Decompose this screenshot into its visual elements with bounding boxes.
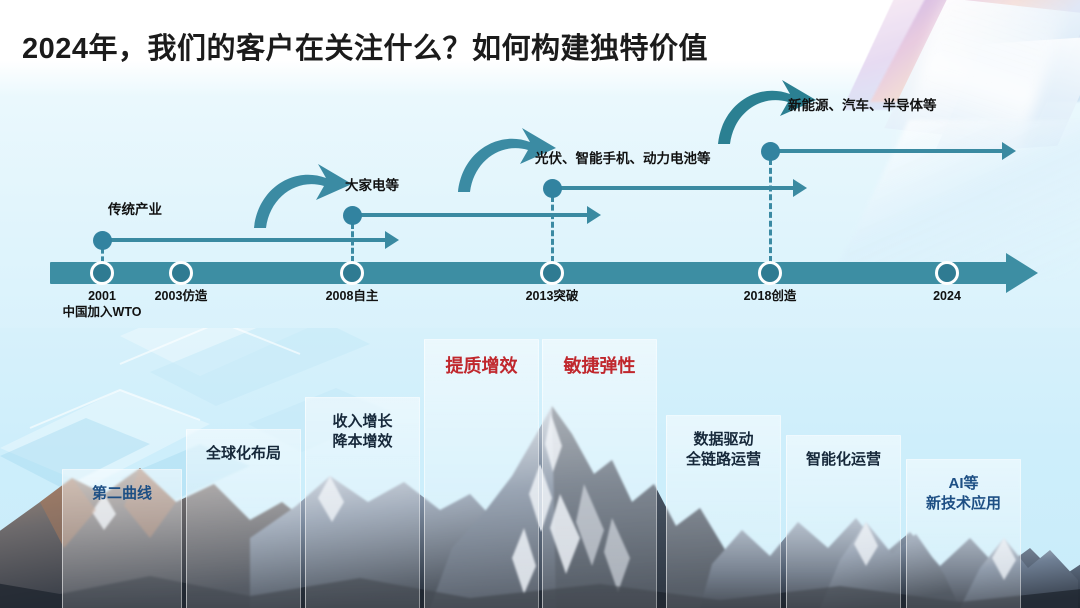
timeline-node-label-line1: 2001 — [63, 289, 142, 305]
pillar-label-line1: 提质增效 — [425, 354, 538, 378]
timeline-node-label-2: 2003仿造 — [155, 289, 208, 305]
pillar-8[interactable]: AI等新技术应用 — [906, 459, 1021, 608]
pillar-label-5: 敏捷弹性 — [543, 354, 656, 378]
pillar-label-line1: 数据驱动 — [667, 430, 780, 450]
slide-canvas: 2024年，我们的客户在关注什么？如何构建独特价值 传统产业大家电等光伏、智能手… — [0, 0, 1080, 608]
pillar-label-line1: 智能化运营 — [787, 450, 900, 470]
pillar-label-line1: AI等 — [907, 474, 1020, 494]
timeline-node-label-line1: 2024 — [933, 289, 961, 305]
pillar-label-6: 数据驱动全链路运营 — [667, 430, 780, 471]
step-caption-3: 光伏、智能手机、动力电池等 — [535, 147, 711, 167]
step-track-1 — [102, 238, 386, 242]
pillar-2[interactable]: 全球化布局 — [186, 429, 301, 608]
pillar-label-8: AI等新技术应用 — [907, 474, 1020, 515]
step-connector-2 — [351, 223, 354, 262]
step-arrowhead-3-icon — [793, 179, 807, 197]
pillar-label-line2: 新技术应用 — [907, 494, 1020, 514]
page-title: 2024年，我们的客户在关注什么？如何构建独特价值 — [22, 25, 708, 67]
timeline-axis-arrowhead-icon — [1006, 253, 1038, 293]
pillar-7[interactable]: 智能化运营 — [786, 435, 901, 608]
mountain-scene: 第二曲线全球化布局收入增长降本增效提质增效敏捷弹性数据驱动全链路运营智能化运营A… — [0, 328, 1080, 608]
step-connector-3 — [551, 196, 554, 262]
decorative-cube-cluster-icon — [810, 0, 1080, 150]
step-marker-4[interactable] — [761, 142, 780, 161]
step-arrowhead-1-icon — [385, 231, 399, 249]
timeline-node-3[interactable] — [340, 261, 364, 285]
timeline-node-2[interactable] — [169, 261, 193, 285]
pillar-5[interactable]: 敏捷弹性 — [542, 339, 657, 608]
timeline-node-label-5: 2018创造 — [744, 289, 797, 305]
timeline-node-6[interactable] — [935, 261, 959, 285]
timeline-node-label-1: 2001中国加入WTO — [63, 289, 142, 320]
timeline-node-5[interactable] — [758, 261, 782, 285]
pillar-label-3: 收入增长降本增效 — [306, 412, 419, 453]
timeline-node-label-4: 2013突破 — [526, 289, 579, 305]
step-caption-2: 大家电等 — [345, 174, 399, 194]
step-track-4 — [770, 149, 1003, 153]
timeline-node-1[interactable] — [90, 261, 114, 285]
step-connector-4 — [769, 159, 772, 262]
pillar-label-2: 全球化布局 — [187, 444, 300, 464]
pillar-6[interactable]: 数据驱动全链路运营 — [666, 415, 781, 608]
timeline-node-label-3: 2008自主 — [326, 289, 379, 305]
timeline-node-label-line1: 2018创造 — [744, 289, 797, 305]
step-arrowhead-4-icon — [1002, 142, 1016, 160]
step-track-3 — [552, 186, 794, 190]
step-marker-3[interactable] — [543, 179, 562, 198]
pillar-label-line2: 全链路运营 — [667, 450, 780, 470]
step-connector-1 — [101, 248, 104, 262]
pillar-label-line1: 收入增长 — [306, 412, 419, 432]
step-marker-2[interactable] — [343, 206, 362, 225]
pillar-label-line1: 全球化布局 — [187, 444, 300, 464]
step-arrowhead-2-icon — [587, 206, 601, 224]
timeline-node-label-line1: 2003仿造 — [155, 289, 208, 305]
pillar-1[interactable]: 第二曲线 — [62, 469, 182, 608]
step-marker-1[interactable] — [93, 231, 112, 250]
timeline-node-label-line2: 中国加入WTO — [63, 305, 142, 321]
timeline-node-label-6: 2024 — [933, 289, 961, 305]
pillar-label-7: 智能化运营 — [787, 450, 900, 470]
pillar-label-line2: 降本增效 — [306, 432, 419, 452]
pillar-label-1: 第二曲线 — [63, 484, 181, 504]
timeline-node-label-line1: 2013突破 — [526, 289, 579, 305]
step-caption-4: 新能源、汽车、半导体等 — [788, 94, 937, 114]
timeline-node-label-line1: 2008自主 — [326, 289, 379, 305]
decorative-glass-panel-icon — [831, 120, 1080, 280]
pillar-label-4: 提质增效 — [425, 354, 538, 378]
pillar-3[interactable]: 收入增长降本增效 — [305, 397, 420, 608]
swoosh-arrow-1-icon — [248, 158, 358, 230]
pillar-4[interactable]: 提质增效 — [424, 339, 539, 608]
pillar-label-line1: 敏捷弹性 — [543, 354, 656, 378]
timeline-node-4[interactable] — [540, 261, 564, 285]
step-caption-1: 传统产业 — [108, 198, 162, 218]
pillar-label-line1: 第二曲线 — [63, 484, 181, 504]
timeline-axis — [50, 262, 1010, 284]
